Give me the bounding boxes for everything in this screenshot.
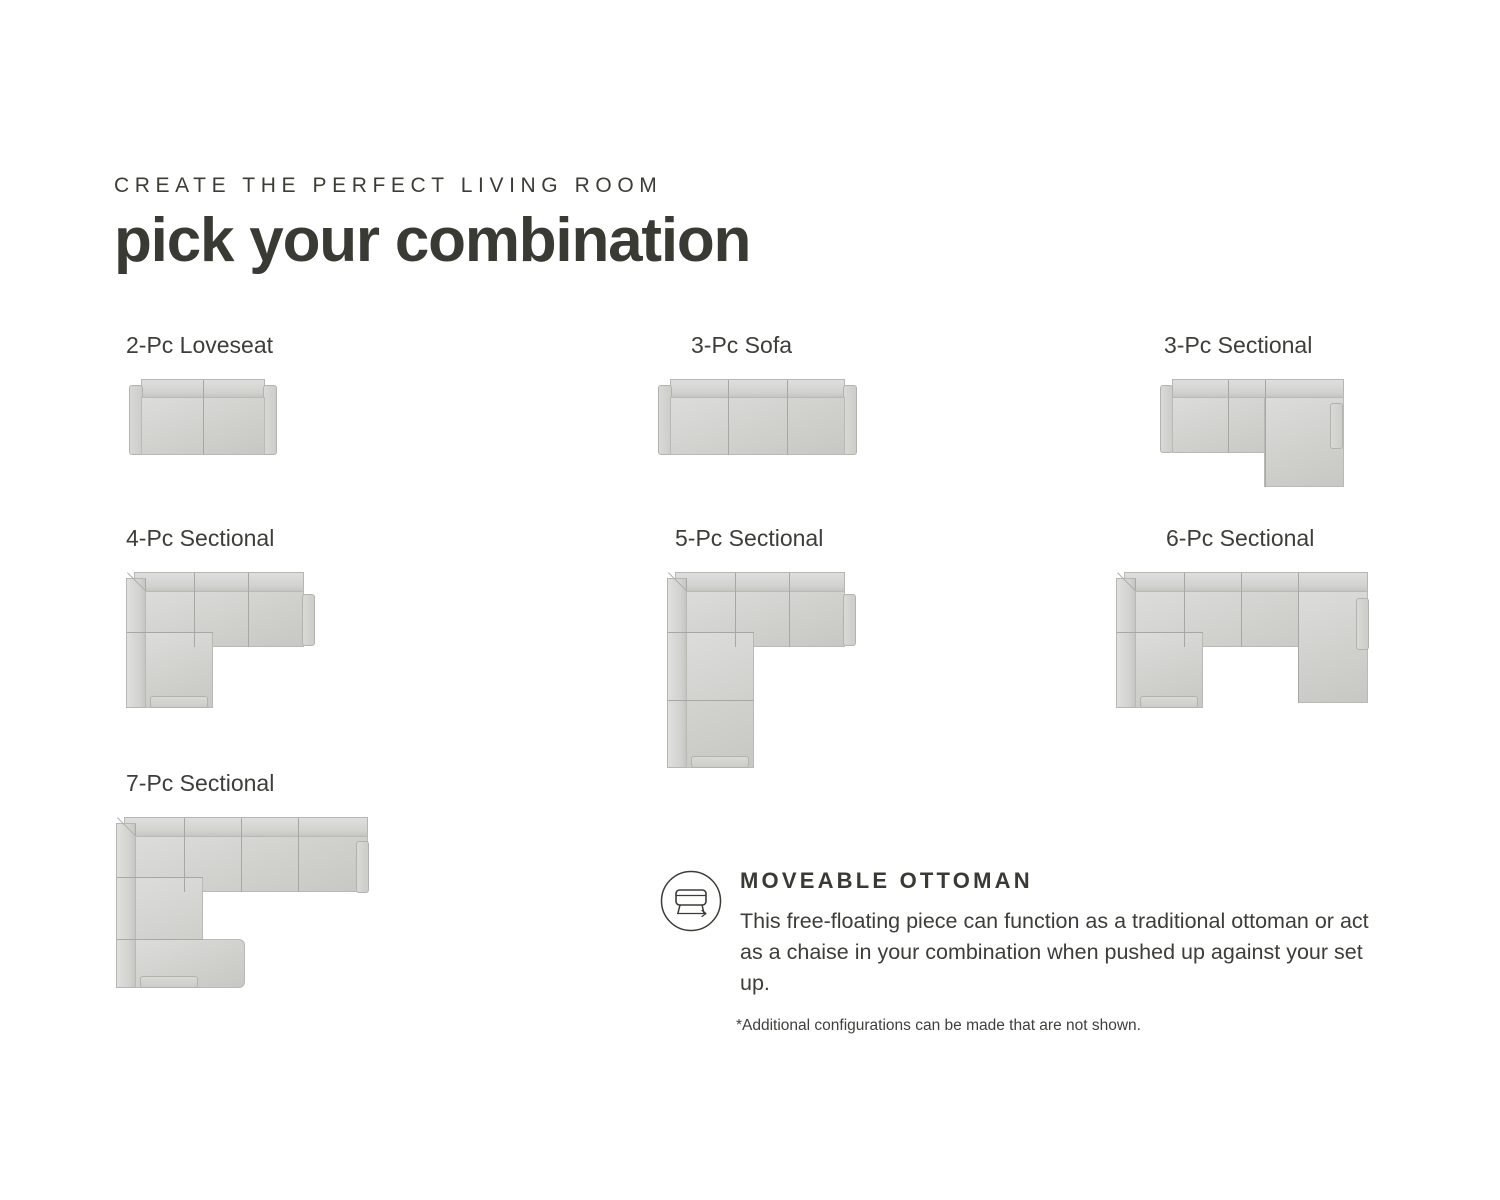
ottoman-icon xyxy=(660,870,722,932)
sofa-arm-right xyxy=(1356,598,1369,650)
sofa-seam xyxy=(1265,380,1266,487)
sofa-arm-right xyxy=(1330,403,1343,449)
ottoman-title: MOVEABLE OTTOMAN xyxy=(740,870,1380,892)
combination-2-pc-loveseat[interactable]: 2-Pc Loveseat xyxy=(126,334,276,459)
moveable-ottoman-callout: MOVEABLE OTTOMAN This free-floating piec… xyxy=(660,862,1380,1000)
sofa-seam xyxy=(241,818,242,892)
combination-4-pc-sectional[interactable]: 4-Pc Sectional xyxy=(126,527,326,712)
sofa-diagram-3-pc-sofa xyxy=(656,379,859,459)
combination-label: 5-Pc Sectional xyxy=(675,527,867,550)
sofa-backrest-left xyxy=(1116,578,1136,708)
sofa-backrest-left xyxy=(116,823,136,988)
ottoman-description: This free-floating piece can function as… xyxy=(740,906,1380,1000)
sofa-backrest-top xyxy=(675,572,845,592)
sofa-arm-right xyxy=(356,841,369,893)
sofa-backrest-left xyxy=(126,578,146,708)
combination-3-pc-sectional[interactable]: 3-Pc Sectional xyxy=(1164,334,1348,489)
sofa-backrest-top xyxy=(124,817,368,837)
sofa-diagram-6-pc-sectional xyxy=(1116,572,1376,712)
combination-6-pc-sectional[interactable]: 6-Pc Sectional xyxy=(1166,527,1376,712)
sofa-backrest-top xyxy=(1124,572,1368,592)
sofa-seam xyxy=(117,877,203,878)
sofa-seam xyxy=(735,573,736,647)
sofa-seam xyxy=(298,818,299,892)
sofa-seam xyxy=(789,573,790,647)
sofa-seam xyxy=(1184,573,1185,647)
sofa-arm-right xyxy=(843,385,857,455)
combination-label: 7-Pc Sectional xyxy=(126,772,376,795)
sofa-seam xyxy=(117,939,203,940)
combination-label: 2-Pc Loveseat xyxy=(126,334,276,357)
sofa-arm-bottom-left xyxy=(1140,696,1198,708)
sofa-seam xyxy=(1241,573,1242,647)
sofa-arm-right xyxy=(302,594,315,646)
sofa-backrest-left xyxy=(667,578,687,768)
combination-5-pc-sectional[interactable]: 5-Pc Sectional xyxy=(675,527,867,772)
sofa-arm-right xyxy=(263,385,277,455)
sofa-seam xyxy=(184,818,185,892)
sofa-diagram-7-pc-sectional xyxy=(116,817,376,992)
sofa-arm-bottom xyxy=(140,976,198,988)
sofa-seam xyxy=(728,380,729,455)
combination-label: 6-Pc Sectional xyxy=(1166,527,1376,550)
sofa-seam xyxy=(787,380,788,455)
sofa-backrest xyxy=(1172,379,1344,398)
sofa-seam xyxy=(194,573,195,647)
sofa-backrest xyxy=(670,379,845,398)
combination-label: 3-Pc Sectional xyxy=(1164,334,1348,357)
sofa-diagram-4-pc-sectional xyxy=(126,572,326,712)
sofa-backrest-top xyxy=(134,572,304,592)
sofa-seam xyxy=(248,573,249,647)
sofa-seam xyxy=(1298,573,1299,703)
footnote: *Additional configurations can be made t… xyxy=(736,1018,1141,1034)
combination-7-pc-sectional[interactable]: 7-Pc Sectional xyxy=(126,772,376,992)
sofa-seam xyxy=(668,632,754,633)
sofa-seam xyxy=(1117,632,1203,633)
sofa-seam xyxy=(203,380,204,455)
sofa-diagram-2-pc-loveseat xyxy=(126,379,276,459)
poster-page: CREATE THE PERFECT LIVING ROOM pick your… xyxy=(0,0,1500,1200)
sofa-diagram-3-pc-sectional xyxy=(1158,379,1348,489)
sofa-arm-bottom xyxy=(691,756,749,768)
sofa-diagram-5-pc-sectional xyxy=(667,572,867,772)
sofa-seam xyxy=(127,632,213,633)
sofa-arm-right xyxy=(843,594,856,646)
page-header: CREATE THE PERFECT LIVING ROOM pick your… xyxy=(114,175,1114,272)
sofa-arm-bottom xyxy=(150,696,208,708)
combination-3-pc-sofa[interactable]: 3-Pc Sofa xyxy=(691,334,859,459)
combination-label: 3-Pc Sofa xyxy=(691,334,859,357)
combination-label: 4-Pc Sectional xyxy=(126,527,326,550)
page-title: pick your combination xyxy=(114,210,1114,272)
eyebrow-text: CREATE THE PERFECT LIVING ROOM xyxy=(114,175,1114,196)
ottoman-text-block: MOVEABLE OTTOMAN This free-floating piec… xyxy=(740,870,1380,1000)
sofa-seat xyxy=(670,397,845,455)
sofa-seam xyxy=(668,700,754,701)
sofa-seam xyxy=(1228,380,1229,453)
